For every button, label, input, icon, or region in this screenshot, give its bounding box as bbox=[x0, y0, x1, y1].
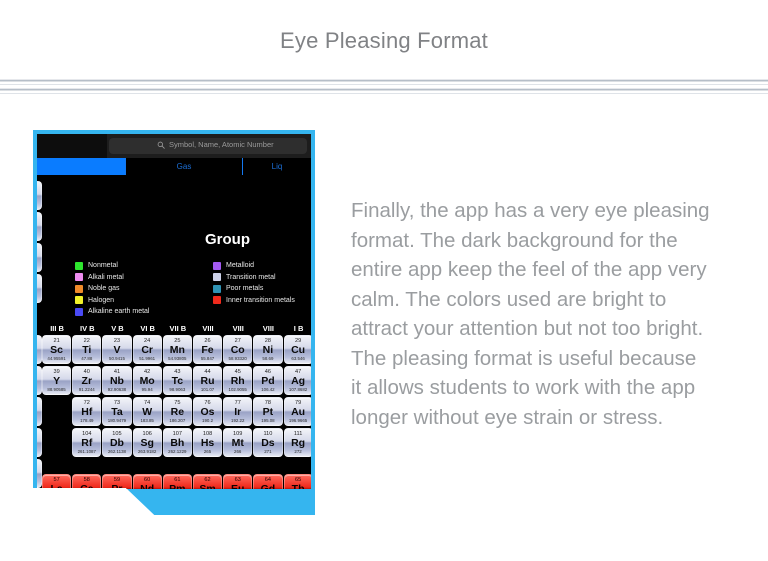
legend-swatch-alkali-metal bbox=[75, 273, 83, 281]
element-symbol: Cr bbox=[134, 344, 161, 356]
element-cell-os[interactable]: 76Os190.2 bbox=[193, 397, 222, 426]
element-symbol: Hs bbox=[194, 437, 221, 449]
legend-item-alkali-metal: Alkali metal bbox=[75, 272, 149, 284]
legend-swatch-alkaline-earth-metal bbox=[75, 308, 83, 316]
element-cell-sg[interactable]: 106Sg263.9182 bbox=[133, 428, 162, 457]
element-symbol: Rh bbox=[224, 375, 251, 387]
state-filter-segmented-control[interactable]: Gas Liq bbox=[37, 158, 311, 175]
cropped-element-cell bbox=[37, 459, 42, 488]
element-cell-w[interactable]: 74W183.85 bbox=[133, 397, 162, 426]
segment-solid[interactable] bbox=[37, 158, 126, 175]
element-cell-pt[interactable]: 78Pt195.08 bbox=[253, 397, 282, 426]
cropped-element-cell bbox=[37, 274, 42, 303]
element-atomic-mass: 47.88 bbox=[73, 356, 100, 361]
element-atomic-mass: 101.07 bbox=[194, 387, 221, 392]
legend-item-poor-metals: Poor metals bbox=[213, 283, 295, 295]
element-cell-ce[interactable]: 58Ce140.115 bbox=[72, 474, 101, 489]
element-symbol: Pr bbox=[103, 483, 130, 490]
search-placeholder-group: Symbol, Name, Atomic Number bbox=[157, 140, 274, 149]
legend-label-alkali-metal: Alkali metal bbox=[88, 274, 124, 281]
legend-swatch-transition-metal bbox=[213, 273, 221, 281]
divider-line-top bbox=[0, 79, 768, 82]
element-atomic-mass: 51.9961 bbox=[134, 356, 161, 361]
element-cell-la[interactable]: 57La138.9055 bbox=[42, 474, 71, 489]
element-symbol: W bbox=[134, 406, 161, 418]
element-cell-mo[interactable]: 42Mo95.94 bbox=[133, 366, 162, 395]
group-header-8-b: VIII bbox=[223, 324, 253, 333]
element-symbol: Mt bbox=[224, 437, 251, 449]
legend-swatch-noble-gas bbox=[75, 285, 83, 293]
element-cell-gd[interactable]: 64Gd157.25 bbox=[253, 474, 282, 489]
legend-item-halogen: Halogen bbox=[75, 295, 149, 307]
legend-label-poor-metals: Poor metals bbox=[226, 285, 263, 292]
group-header-1b: I B bbox=[284, 324, 312, 333]
element-symbol: Pt bbox=[254, 406, 281, 418]
element-symbol: Au bbox=[285, 406, 312, 418]
element-atomic-mass: 262.1229 bbox=[164, 449, 191, 454]
element-cell-empty bbox=[42, 428, 71, 457]
group-header-8-c: VIII bbox=[253, 324, 283, 333]
app-screenshot-frame: Symbol, Name, Atomic Number Gas Liq Grou… bbox=[33, 130, 315, 515]
element-atomic-mass: 196.9665 bbox=[285, 418, 312, 423]
search-input[interactable]: Symbol, Name, Atomic Number bbox=[109, 138, 307, 154]
element-cell-sm[interactable]: 62Sm150.36 bbox=[193, 474, 222, 489]
periodic-table-area[interactable]: Group Nonmetal Alkali metal Noble gas bbox=[37, 175, 311, 489]
element-row: 21Sc44.9559122Ti47.8823V50.941524Cr51.99… bbox=[42, 335, 311, 365]
element-cell-hs[interactable]: 108Hs265 bbox=[193, 428, 222, 457]
element-cell-rf[interactable]: 104Rf261.1087 bbox=[72, 428, 101, 457]
element-row: 72Hf178.4973Ta180.947974W183.8575Re186.2… bbox=[42, 397, 311, 427]
legend-label-alkaline-earth-metal: Alkaline earth metal bbox=[88, 308, 149, 315]
legend-item-transition-metal: Transition metal bbox=[213, 272, 295, 284]
legend-swatch-poor-metals bbox=[213, 285, 221, 293]
element-cell-tc[interactable]: 43Tc98.9063 bbox=[163, 366, 192, 395]
slide-body-text: Finally, the app has a very eye pleasing… bbox=[351, 196, 711, 432]
element-cell-tb[interactable]: 65Tb158.9253 bbox=[284, 474, 312, 489]
page-title: Eye Pleasing Format bbox=[0, 28, 768, 54]
legend-item-alkaline-earth-metal: Alkaline earth metal bbox=[75, 306, 149, 318]
legend-swatch-halogen bbox=[75, 296, 83, 304]
element-atomic-mass: 58.69 bbox=[254, 356, 281, 361]
element-atomic-mass: 91.2244 bbox=[73, 387, 100, 392]
element-cell-rg[interactable]: 111Rg272 bbox=[284, 428, 312, 457]
element-atomic-mass: 186.207 bbox=[164, 418, 191, 423]
group-header-6b: VI B bbox=[133, 324, 163, 333]
element-symbol: Ti bbox=[73, 344, 100, 356]
element-cell-pd[interactable]: 46Pd106.42 bbox=[253, 366, 282, 395]
element-symbol: Tb bbox=[285, 483, 312, 490]
element-atomic-mass: 106.42 bbox=[254, 387, 281, 392]
app-top-bar-left-panel bbox=[37, 134, 107, 158]
element-atomic-mass: 50.9415 bbox=[103, 356, 130, 361]
group-heading: Group bbox=[205, 231, 250, 248]
cropped-element-cell bbox=[37, 335, 42, 364]
element-atomic-mass: 262.1138 bbox=[103, 449, 130, 454]
legend-column-right: Metalloid Transition metal Poor metals I… bbox=[213, 260, 295, 306]
legend-swatch-metalloid bbox=[213, 262, 221, 270]
element-symbol: Gd bbox=[254, 483, 281, 490]
divider-line-bottom bbox=[0, 88, 768, 91]
element-atomic-mass: 271 bbox=[254, 449, 281, 454]
legend-label-transition-metal: Transition metal bbox=[226, 274, 276, 281]
app-top-bar: Symbol, Name, Atomic Number bbox=[37, 134, 311, 158]
element-symbol: Ds bbox=[254, 437, 281, 449]
element-atomic-mass: 54.93805 bbox=[164, 356, 191, 361]
cropped-element-cell bbox=[37, 212, 42, 241]
element-cell-ni[interactable]: 28Ni58.69 bbox=[253, 335, 282, 364]
element-atomic-mass: 272 bbox=[285, 449, 312, 454]
element-cell-ta[interactable]: 73Ta180.9479 bbox=[102, 397, 131, 426]
cropped-element-cell bbox=[37, 181, 42, 210]
element-symbol: Eu bbox=[224, 483, 251, 490]
element-symbol: Re bbox=[164, 406, 191, 418]
element-atomic-mass: 88.90585 bbox=[43, 387, 70, 392]
group-header-row: III B IV B V B VI B VII B VIII VIII VIII… bbox=[42, 324, 311, 333]
element-cell-rh[interactable]: 45Rh102.9055 bbox=[223, 366, 252, 395]
element-symbol: Bh bbox=[164, 437, 191, 449]
element-cell-co[interactable]: 27Co58.93320 bbox=[223, 335, 252, 364]
element-atomic-mass: 190.2 bbox=[194, 418, 221, 423]
element-symbol: Ni bbox=[254, 344, 281, 356]
cropped-left-column bbox=[37, 175, 42, 489]
element-cell-nd[interactable]: 60Nd144.24 bbox=[133, 474, 162, 489]
element-cell-nb[interactable]: 41Nb92.90638 bbox=[102, 366, 131, 395]
element-grid-gap bbox=[42, 459, 311, 473]
legend-label-nonmetal: Nonmetal bbox=[88, 262, 118, 269]
element-cell-sc[interactable]: 21Sc44.95591 bbox=[42, 335, 71, 364]
segment-liquid[interactable]: Liq bbox=[243, 158, 311, 175]
cropped-element-cell bbox=[37, 397, 42, 426]
search-icon bbox=[157, 141, 165, 149]
element-symbol: Nd bbox=[134, 483, 161, 490]
element-atomic-mass: 107.8682 bbox=[285, 387, 312, 392]
element-atomic-mass: 92.90638 bbox=[103, 387, 130, 392]
legend-label-halogen: Halogen bbox=[88, 297, 114, 304]
element-symbol: Ce bbox=[73, 483, 100, 490]
element-atomic-mass: 58.93320 bbox=[224, 356, 251, 361]
element-symbol: Sg bbox=[134, 437, 161, 449]
element-symbol: Rg bbox=[285, 437, 312, 449]
element-symbol: Tc bbox=[164, 375, 191, 387]
element-cell-ds[interactable]: 110Ds271 bbox=[253, 428, 282, 457]
legend-label-noble-gas: Noble gas bbox=[88, 285, 120, 292]
group-header-3b: III B bbox=[42, 324, 72, 333]
element-cell-cu[interactable]: 29Cu63.546 bbox=[284, 335, 312, 364]
element-symbol: Zr bbox=[73, 375, 100, 387]
element-symbol: La bbox=[43, 483, 70, 490]
element-cell-hf[interactable]: 72Hf178.49 bbox=[72, 397, 101, 426]
element-symbol: Ta bbox=[103, 406, 130, 418]
element-cell-pm[interactable]: 61Pm146.9151 bbox=[163, 474, 192, 489]
legend-item-inner-transition-metals: Inner transition metals bbox=[213, 295, 295, 307]
element-cell-ir[interactable]: 77Ir192.22 bbox=[223, 397, 252, 426]
element-atomic-mass: 180.9479 bbox=[103, 418, 130, 423]
element-cell-ti[interactable]: 22Ti47.88 bbox=[72, 335, 101, 364]
header-divider bbox=[0, 79, 768, 101]
cropped-element-cell bbox=[37, 366, 42, 395]
group-header-5b: V B bbox=[102, 324, 132, 333]
element-symbol: Cu bbox=[285, 344, 312, 356]
element-symbol: Rf bbox=[73, 437, 100, 449]
group-header-8-a: VIII bbox=[193, 324, 223, 333]
app-screen: Symbol, Name, Atomic Number Gas Liq Grou… bbox=[37, 134, 311, 489]
element-cell-mn[interactable]: 25Mn54.93805 bbox=[163, 335, 192, 364]
element-symbol: Mn bbox=[164, 344, 191, 356]
legend-swatch-nonmetal bbox=[75, 262, 83, 270]
element-atomic-mass: 195.08 bbox=[254, 418, 281, 423]
group-header-7b: VII B bbox=[163, 324, 193, 333]
element-symbol: Fe bbox=[194, 344, 221, 356]
element-cell-y[interactable]: 39Y88.90585 bbox=[42, 366, 71, 395]
element-cell-mt[interactable]: 109Mt266 bbox=[223, 428, 252, 457]
element-cell-bh[interactable]: 107Bh262.1229 bbox=[163, 428, 192, 457]
element-row: 39Y88.9058540Zr91.224441Nb92.9063842Mo95… bbox=[42, 366, 311, 396]
element-cell-empty bbox=[42, 397, 71, 426]
cropped-element-cell bbox=[37, 428, 42, 457]
element-atomic-mass: 95.94 bbox=[134, 387, 161, 392]
legend-swatch-inner-transition-metals bbox=[213, 296, 221, 304]
segment-gas[interactable]: Gas bbox=[126, 158, 243, 175]
element-atomic-mass: 55.847 bbox=[194, 356, 221, 361]
element-symbol: Db bbox=[103, 437, 130, 449]
legend-item-noble-gas: Noble gas bbox=[75, 283, 149, 295]
element-cell-db[interactable]: 105Db262.1138 bbox=[102, 428, 131, 457]
element-cell-re[interactable]: 75Re186.207 bbox=[163, 397, 192, 426]
divider-hairline-bottom bbox=[0, 93, 768, 94]
element-row: 57La138.905558Ce140.11559Pr140.907760Nd1… bbox=[42, 474, 311, 489]
element-symbol: Co bbox=[224, 344, 251, 356]
element-symbol: Ru bbox=[194, 375, 221, 387]
element-atomic-mass: 178.49 bbox=[73, 418, 100, 423]
element-cell-fe[interactable]: 26Fe55.847 bbox=[193, 335, 222, 364]
element-row: 104Rf261.1087105Db262.1138106Sg263.91821… bbox=[42, 428, 311, 458]
element-cell-cr[interactable]: 24Cr51.9961 bbox=[133, 335, 162, 364]
element-symbol: Nb bbox=[103, 375, 130, 387]
element-cell-eu[interactable]: 63Eu151.965 bbox=[223, 474, 252, 489]
search-placeholder-text: Symbol, Name, Atomic Number bbox=[169, 140, 274, 149]
element-symbol: Sc bbox=[43, 344, 70, 356]
element-cell-ru[interactable]: 44Ru101.07 bbox=[193, 366, 222, 395]
element-symbol: Ag bbox=[285, 375, 312, 387]
element-symbol: Sm bbox=[194, 483, 221, 490]
divider-hairline-top bbox=[0, 84, 768, 85]
element-symbol: Mo bbox=[134, 375, 161, 387]
element-atomic-mass: 98.9063 bbox=[164, 387, 191, 392]
element-cell-pr[interactable]: 59Pr140.9077 bbox=[102, 474, 131, 489]
legend-label-metalloid: Metalloid bbox=[226, 262, 254, 269]
legend-item-metalloid: Metalloid bbox=[213, 260, 295, 272]
element-symbol: V bbox=[103, 344, 130, 356]
element-symbol: Hf bbox=[73, 406, 100, 418]
element-symbol: Ir bbox=[224, 406, 251, 418]
element-atomic-mass: 266 bbox=[224, 449, 251, 454]
element-symbol: Os bbox=[194, 406, 221, 418]
element-atomic-mass: 102.9055 bbox=[224, 387, 251, 392]
legend-column-left: Nonmetal Alkali metal Noble gas Halogen bbox=[75, 260, 149, 318]
element-grid[interactable]: 21Sc44.9559122Ti47.8823V50.941524Cr51.99… bbox=[42, 335, 311, 489]
element-cell-v[interactable]: 23V50.9415 bbox=[102, 335, 131, 364]
element-cell-ag[interactable]: 47Ag107.8682 bbox=[284, 366, 312, 395]
element-cell-zr[interactable]: 40Zr91.2244 bbox=[72, 366, 101, 395]
element-atomic-mass: 261.1087 bbox=[73, 449, 100, 454]
element-cell-au[interactable]: 79Au196.9665 bbox=[284, 397, 312, 426]
element-atomic-mass: 263.9182 bbox=[134, 449, 161, 454]
element-symbol: Pd bbox=[254, 375, 281, 387]
element-atomic-mass: 63.546 bbox=[285, 356, 312, 361]
element-symbol: Pm bbox=[164, 483, 191, 490]
element-symbol: Y bbox=[43, 375, 70, 387]
element-atomic-mass: 183.85 bbox=[134, 418, 161, 423]
element-atomic-mass: 192.22 bbox=[224, 418, 251, 423]
element-atomic-mass: 265 bbox=[194, 449, 221, 454]
cropped-element-cell bbox=[37, 243, 42, 272]
legend-label-inner-transition-metals: Inner transition metals bbox=[226, 297, 295, 304]
legend-item-nonmetal: Nonmetal bbox=[75, 260, 149, 272]
group-header-4b: IV B bbox=[72, 324, 102, 333]
element-atomic-mass: 44.95591 bbox=[43, 356, 70, 361]
